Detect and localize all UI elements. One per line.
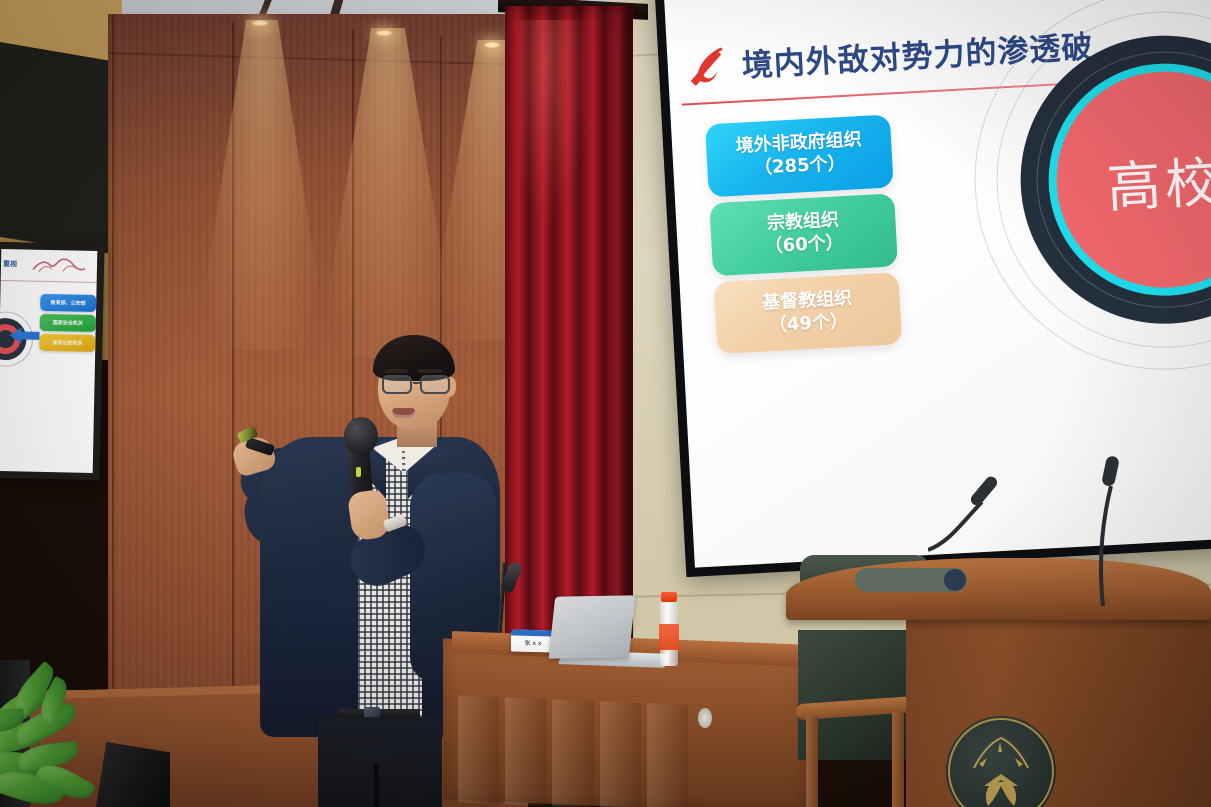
side-monitor: 重视 教育部、公安部 国家安全机关 省市公安机关: [0, 242, 104, 480]
side-monitor-box-column: 教育部、公安部 国家安全机关 省市公安机关: [39, 294, 96, 352]
religious-org-label: 宗教组织: [766, 209, 839, 234]
lectern-slat: [647, 703, 688, 807]
handheld-microphone-head[interactable]: [344, 417, 378, 455]
lectern-slat: [458, 695, 499, 804]
desk-mic-base: [855, 556, 975, 592]
side-monitor-rule: [1, 280, 98, 283]
eyeglasses-lens-right: [420, 375, 450, 394]
target-core-label: 高校: [1105, 137, 1211, 222]
lectern-slat: [505, 697, 546, 806]
downlight: [376, 30, 392, 36]
slide-box-column: 境外非政府组织 （285个） 宗教组织 （60个） 基督教组织 （49个）: [705, 114, 902, 354]
tv-box-education-police: 教育部、公安部: [40, 294, 96, 312]
eyeglasses-bridge: [413, 382, 422, 384]
religious-org-count: （60个）: [717, 229, 891, 262]
nameplate-stripe: [511, 629, 555, 636]
head-table-moulding: [906, 700, 1211, 710]
gooseneck-mic-right[interactable]: [1085, 448, 1145, 608]
tv-box-state-security: 国家安全机关: [40, 314, 96, 332]
chair-leg: [892, 712, 904, 807]
gooseneck-mic-left[interactable]: [928, 430, 1068, 560]
presenter-mouth: [392, 408, 415, 418]
lectern-slat: [600, 701, 641, 807]
wall-dark-inset: [0, 42, 112, 254]
religious-org-box: 宗教组织 （60个）: [709, 193, 898, 276]
overseas-ngo-box: 境外非政府组织 （285个）: [705, 114, 894, 197]
nameplate-text: 张 x x: [511, 637, 555, 647]
chair-leg: [806, 716, 818, 807]
presenter-trouser-seam: [374, 763, 379, 807]
lecture-hall-photo: 境内外敌对势力的渗透破 境外非政府组织 （285个） 宗教组织 （60个） 基督…: [0, 0, 1211, 807]
lectern-cable-grommet: [698, 708, 712, 728]
water-bottle-label: [659, 624, 679, 650]
lectern-front-slats: [458, 695, 688, 807]
left-arrow-icon: [9, 327, 39, 344]
laptop-lid[interactable]: [549, 595, 636, 658]
eyeglasses-lens-left: [382, 375, 412, 394]
side-monitor-screen: 重视 教育部、公安部 国家安全机关 省市公安机关: [0, 249, 97, 473]
nameplate: 张 x x: [511, 629, 555, 652]
target-rings-graphic: 高校: [965, 0, 1211, 380]
presenter-eyebrow: [418, 369, 442, 373]
lectern-slat: [552, 699, 593, 807]
christian-org-box: 基督教组织 （49个）: [714, 272, 903, 355]
decorative-script-logo: [29, 256, 87, 277]
downlight: [484, 42, 500, 48]
water-bottle-cap: [661, 592, 677, 602]
wall-seam: [112, 14, 114, 694]
presenter-eyebrow: [384, 369, 408, 373]
microphone-indicator-light: [356, 467, 361, 477]
ccp-hammer-sickle-emblem: [685, 43, 731, 87]
tv-box-provincial-police: 省市公安机关: [39, 334, 95, 352]
potted-plant: [0, 666, 134, 807]
presenter-trousers: [318, 717, 442, 807]
christian-org-count: （49个）: [721, 307, 895, 340]
downlight: [252, 20, 268, 26]
side-monitor-header: 重视: [3, 259, 17, 269]
christian-org-label: 基督教组织: [762, 287, 853, 313]
